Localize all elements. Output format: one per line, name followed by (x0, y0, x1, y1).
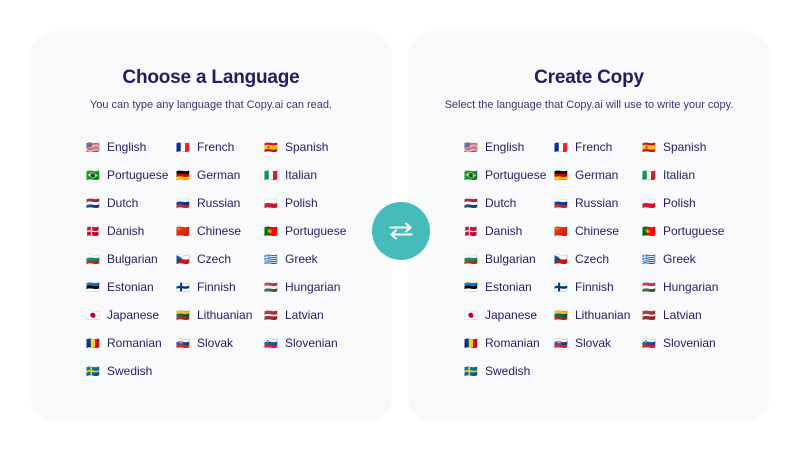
flag-hungary: 🇭🇺 (264, 282, 279, 293)
flag-czech-republic: 🇨🇿 (554, 254, 569, 265)
flag-romania: 🇷🇴 (464, 338, 479, 349)
language-option-label: Russian (575, 197, 618, 209)
language-option-label: Slovak (197, 337, 233, 349)
language-option-label: Portuguese (663, 225, 724, 237)
language-option-label: Finnish (575, 281, 614, 293)
language-option-label: German (197, 169, 240, 181)
flag-portugal: 🇵🇹 (264, 226, 279, 237)
language-option-greek[interactable]: 🇬🇷Greek (642, 245, 752, 273)
language-option-french[interactable]: 🇫🇷French (176, 133, 264, 161)
language-option-portuguese[interactable]: 🇵🇹Portuguese (264, 217, 374, 245)
language-option-portuguese[interactable]: 🇵🇹Portuguese (642, 217, 752, 245)
language-option-label: Hungarian (663, 281, 718, 293)
language-option-bulgarian[interactable]: 🇧🇬Bulgarian (464, 245, 554, 273)
flag-spain: 🇪🇸 (642, 142, 657, 153)
language-option-hungarian[interactable]: 🇭🇺Hungarian (642, 273, 752, 301)
language-option-label: French (575, 141, 612, 153)
flag-lithuania: 🇱🇹 (176, 310, 191, 321)
language-option-dutch[interactable]: 🇳🇱Dutch (464, 189, 554, 217)
language-column-1: 🇺🇸English🇧🇷Portuguese🇳🇱Dutch🇩🇰Danish🇧🇬Bu… (86, 133, 176, 385)
flag-czech-republic: 🇨🇿 (176, 254, 191, 265)
language-option-slovak[interactable]: 🇸🇰Slovak (554, 329, 642, 357)
language-option-hungarian[interactable]: 🇭🇺Hungarian (264, 273, 374, 301)
language-option-label: Chinese (575, 225, 619, 237)
language-option-german[interactable]: 🇩🇪German (176, 161, 264, 189)
create-copy-card: Create Copy Select the language that Cop… (408, 31, 770, 421)
language-column-2: 🇫🇷French🇩🇪German🇷🇺Russian🇨🇳Chinese🇨🇿Czec… (176, 133, 264, 385)
language-option-label: Bulgarian (107, 253, 158, 265)
language-option-label: English (485, 141, 524, 153)
flag-poland: 🇵🇱 (642, 198, 657, 209)
language-option-label: Dutch (485, 197, 516, 209)
language-option-label: Swedish (107, 365, 152, 377)
language-option-spanish[interactable]: 🇪🇸Spanish (264, 133, 374, 161)
flag-slovakia: 🇸🇰 (554, 338, 569, 349)
language-option-label: Japanese (107, 309, 159, 321)
language-option-label: Portuguese (485, 169, 546, 181)
flag-brazil: 🇧🇷 (86, 170, 101, 181)
language-option-label: Bulgarian (485, 253, 536, 265)
language-option-spanish[interactable]: 🇪🇸Spanish (642, 133, 752, 161)
flag-italy: 🇮🇹 (642, 170, 657, 181)
flag-netherlands: 🇳🇱 (464, 198, 479, 209)
flag-russia: 🇷🇺 (554, 198, 569, 209)
language-option-czech[interactable]: 🇨🇿Czech (554, 245, 642, 273)
language-option-russian[interactable]: 🇷🇺Russian (554, 189, 642, 217)
language-option-label: Swedish (485, 365, 530, 377)
choose-language-card: Choose a Language You can type any langu… (30, 31, 392, 421)
swap-horizontal-arrows-icon (388, 221, 414, 241)
choose-language-title: Choose a Language (30, 31, 392, 89)
flag-netherlands: 🇳🇱 (86, 198, 101, 209)
language-option-estonian[interactable]: 🇪🇪Estonian (86, 273, 176, 301)
language-option-label: German (575, 169, 618, 181)
language-option-label: Lithuanian (575, 309, 630, 321)
language-option-swedish[interactable]: 🇸🇪Swedish (464, 357, 554, 385)
language-option-finnish[interactable]: 🇫🇮Finnish (554, 273, 642, 301)
flag-hungary: 🇭🇺 (642, 282, 657, 293)
choose-language-grid: 🇺🇸English🇧🇷Portuguese🇳🇱Dutch🇩🇰Danish🇧🇬Bu… (30, 111, 392, 385)
flag-estonia: 🇪🇪 (464, 282, 479, 293)
language-option-italian[interactable]: 🇮🇹Italian (264, 161, 374, 189)
flag-denmark: 🇩🇰 (464, 226, 479, 237)
language-option-latvian[interactable]: 🇱🇻Latvian (264, 301, 374, 329)
flag-germany: 🇩🇪 (554, 170, 569, 181)
language-option-label: Estonian (485, 281, 532, 293)
flag-japan: 🇯🇵 (464, 310, 479, 321)
flag-finland: 🇫🇮 (554, 282, 569, 293)
language-option-slovak[interactable]: 🇸🇰Slovak (176, 329, 264, 357)
flag-bulgaria: 🇧🇬 (86, 254, 101, 265)
language-option-label: Slovenian (663, 337, 716, 349)
language-option-label: Dutch (107, 197, 138, 209)
language-option-label: Spanish (285, 141, 328, 153)
flag-brazil: 🇧🇷 (464, 170, 479, 181)
language-option-label: Finnish (197, 281, 236, 293)
language-column-2: 🇫🇷French🇩🇪German🇷🇺Russian🇨🇳Chinese🇨🇿Czec… (554, 133, 642, 385)
language-option-label: Russian (197, 197, 240, 209)
language-option-portuguese[interactable]: 🇧🇷Portuguese (86, 161, 176, 189)
language-option-label: Japanese (485, 309, 537, 321)
flag-lithuania: 🇱🇹 (554, 310, 569, 321)
flag-poland: 🇵🇱 (264, 198, 279, 209)
choose-language-subtitle: You can type any language that Copy.ai c… (30, 89, 392, 111)
flag-japan: 🇯🇵 (86, 310, 101, 321)
language-option-dutch[interactable]: 🇳🇱Dutch (86, 189, 176, 217)
language-option-label: Czech (575, 253, 609, 265)
flag-russia: 🇷🇺 (176, 198, 191, 209)
language-option-latvian[interactable]: 🇱🇻Latvian (642, 301, 752, 329)
flag-france: 🇫🇷 (176, 142, 191, 153)
flag-sweden: 🇸🇪 (86, 366, 101, 377)
language-option-czech[interactable]: 🇨🇿Czech (176, 245, 264, 273)
language-option-estonian[interactable]: 🇪🇪Estonian (464, 273, 554, 301)
language-option-slovenian[interactable]: 🇸🇮Slovenian (642, 329, 752, 357)
language-option-portuguese[interactable]: 🇧🇷Portuguese (464, 161, 554, 189)
flag-slovenia: 🇸🇮 (642, 338, 657, 349)
language-option-bulgarian[interactable]: 🇧🇬Bulgarian (86, 245, 176, 273)
language-option-label: Latvian (285, 309, 324, 321)
flag-latvia: 🇱🇻 (264, 310, 279, 321)
language-option-label: Spanish (663, 141, 706, 153)
language-column-1: 🇺🇸English🇧🇷Portuguese🇳🇱Dutch🇩🇰Danish🇧🇬Bu… (464, 133, 554, 385)
language-option-label: Polish (663, 197, 696, 209)
create-copy-grid: 🇺🇸English🇧🇷Portuguese🇳🇱Dutch🇩🇰Danish🇧🇬Bu… (408, 111, 770, 385)
language-option-lithuanian[interactable]: 🇱🇹Lithuanian (554, 301, 642, 329)
language-option-french[interactable]: 🇫🇷French (554, 133, 642, 161)
flag-france: 🇫🇷 (554, 142, 569, 153)
language-option-english[interactable]: 🇺🇸English (86, 133, 176, 161)
language-option-swedish[interactable]: 🇸🇪Swedish (86, 357, 176, 385)
language-option-label: Greek (285, 253, 318, 265)
language-option-russian[interactable]: 🇷🇺Russian (176, 189, 264, 217)
language-option-label: Greek (663, 253, 696, 265)
language-option-lithuanian[interactable]: 🇱🇹Lithuanian (176, 301, 264, 329)
language-option-japanese[interactable]: 🇯🇵Japanese (464, 301, 554, 329)
language-option-label: Slovak (575, 337, 611, 349)
flag-greece: 🇬🇷 (264, 254, 279, 265)
flag-italy: 🇮🇹 (264, 170, 279, 181)
language-option-italian[interactable]: 🇮🇹Italian (642, 161, 752, 189)
language-option-romanian[interactable]: 🇷🇴Romanian (464, 329, 554, 357)
flag-bulgaria: 🇧🇬 (464, 254, 479, 265)
language-option-label: Czech (197, 253, 231, 265)
language-option-english[interactable]: 🇺🇸English (464, 133, 554, 161)
flag-greece: 🇬🇷 (642, 254, 657, 265)
language-option-label: Polish (285, 197, 318, 209)
language-option-chinese[interactable]: 🇨🇳Chinese (554, 217, 642, 245)
language-option-label: Portuguese (285, 225, 346, 237)
language-column-3: 🇪🇸Spanish🇮🇹Italian🇵🇱Polish🇵🇹Portuguese🇬🇷… (264, 133, 374, 385)
language-option-label: Chinese (197, 225, 241, 237)
swap-languages-button[interactable] (372, 202, 430, 260)
flag-spain: 🇪🇸 (264, 142, 279, 153)
language-option-danish[interactable]: 🇩🇰Danish (464, 217, 554, 245)
flag-germany: 🇩🇪 (176, 170, 191, 181)
language-option-label: Portuguese (107, 169, 168, 181)
language-option-label: Lithuanian (197, 309, 252, 321)
language-option-slovenian[interactable]: 🇸🇮Slovenian (264, 329, 374, 357)
language-option-label: Estonian (107, 281, 154, 293)
language-option-label: Danish (485, 225, 522, 237)
language-option-label: Italian (285, 169, 317, 181)
flag-romania: 🇷🇴 (86, 338, 101, 349)
flag-united-states: 🇺🇸 (86, 142, 101, 153)
flag-denmark: 🇩🇰 (86, 226, 101, 237)
flag-finland: 🇫🇮 (176, 282, 191, 293)
flag-latvia: 🇱🇻 (642, 310, 657, 321)
language-option-polish[interactable]: 🇵🇱Polish (642, 189, 752, 217)
language-option-romanian[interactable]: 🇷🇴Romanian (86, 329, 176, 357)
flag-estonia: 🇪🇪 (86, 282, 101, 293)
language-option-label: Hungarian (285, 281, 340, 293)
language-option-label: Romanian (107, 337, 162, 349)
flag-slovenia: 🇸🇮 (264, 338, 279, 349)
create-copy-title: Create Copy (408, 31, 770, 89)
flag-united-states: 🇺🇸 (464, 142, 479, 153)
language-option-japanese[interactable]: 🇯🇵Japanese (86, 301, 176, 329)
flag-sweden: 🇸🇪 (464, 366, 479, 377)
flag-china: 🇨🇳 (554, 226, 569, 237)
language-option-label: Slovenian (285, 337, 338, 349)
flag-slovakia: 🇸🇰 (176, 338, 191, 349)
language-option-chinese[interactable]: 🇨🇳Chinese (176, 217, 264, 245)
language-option-label: Danish (107, 225, 144, 237)
language-option-greek[interactable]: 🇬🇷Greek (264, 245, 374, 273)
flag-portugal: 🇵🇹 (642, 226, 657, 237)
language-option-label: Italian (663, 169, 695, 181)
language-selector-screen: Choose a Language You can type any langu… (0, 0, 800, 452)
language-option-label: Latvian (663, 309, 702, 321)
flag-china: 🇨🇳 (176, 226, 191, 237)
language-option-label: English (107, 141, 146, 153)
language-option-label: Romanian (485, 337, 540, 349)
language-option-label: French (197, 141, 234, 153)
language-option-polish[interactable]: 🇵🇱Polish (264, 189, 374, 217)
create-copy-subtitle: Select the language that Copy.ai will us… (408, 89, 770, 111)
language-option-finnish[interactable]: 🇫🇮Finnish (176, 273, 264, 301)
language-option-danish[interactable]: 🇩🇰Danish (86, 217, 176, 245)
language-column-3: 🇪🇸Spanish🇮🇹Italian🇵🇱Polish🇵🇹Portuguese🇬🇷… (642, 133, 752, 385)
language-option-german[interactable]: 🇩🇪German (554, 161, 642, 189)
